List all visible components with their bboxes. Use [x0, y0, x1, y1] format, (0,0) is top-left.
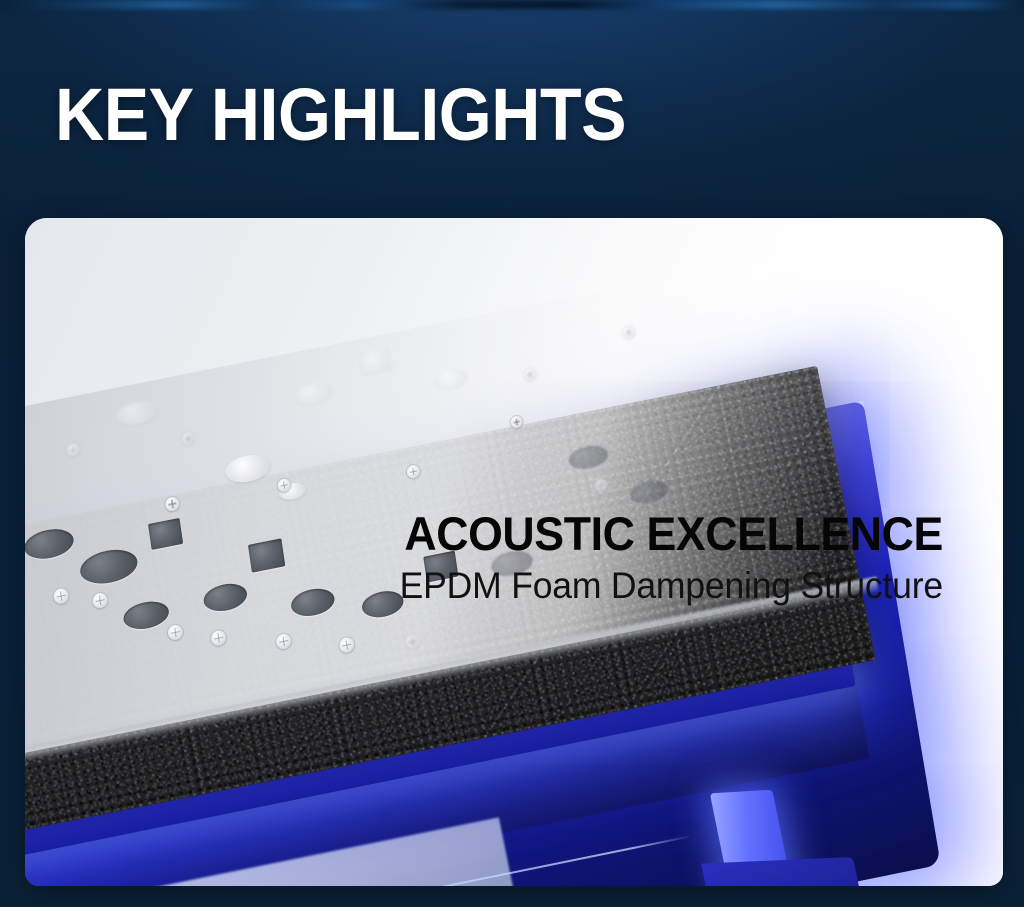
plate-hole	[294, 380, 334, 407]
plate-hole	[567, 443, 609, 473]
plate-rivet-icon	[53, 587, 70, 605]
page-title: KEY HIGHLIGHTS	[55, 78, 626, 152]
card-title: ACOUSTIC EXCELLENCE	[404, 510, 943, 558]
plate-rivet-icon	[406, 464, 421, 479]
plate-rivet-icon	[338, 636, 355, 654]
plate-hole	[433, 367, 469, 391]
plate-hole	[78, 545, 140, 588]
plate-rivet-icon	[523, 367, 537, 381]
plate-hole	[202, 580, 249, 614]
card-subtitle: EPDM Foam Dampening Structure	[399, 567, 943, 606]
plate-hole	[115, 398, 159, 428]
plate-slot	[359, 348, 392, 376]
plate-rivet-icon	[167, 624, 184, 642]
slide-root: KEY HIGHLIGHTS	[0, 0, 1024, 907]
plate-rivet-icon	[92, 592, 109, 610]
plate-hole	[289, 585, 336, 619]
card-copy: ACOUSTIC EXCELLENCE EPDM Foam Dampening …	[376, 510, 943, 606]
plate-rivet-icon	[66, 442, 81, 457]
plate-hole	[25, 525, 76, 563]
plate-hole	[122, 598, 171, 633]
plate-rivet-icon	[164, 496, 180, 513]
plate-hole	[629, 478, 669, 507]
plate-rivet-icon	[510, 415, 524, 429]
plate-rivet-icon	[181, 432, 195, 446]
plate-slot	[148, 518, 183, 550]
highlight-card: ACOUSTIC EXCELLENCE EPDM Foam Dampening …	[25, 218, 1003, 886]
plate-hole	[223, 451, 272, 486]
plate-rivet-icon	[622, 325, 636, 339]
plate-slot	[248, 538, 285, 572]
plate-rivet-icon	[210, 629, 227, 647]
plate-rivet-icon	[275, 632, 292, 650]
plate-rivet-icon	[405, 633, 421, 650]
plate-rivet-icon	[594, 477, 609, 492]
top-edge-glow	[0, 0, 1024, 9]
